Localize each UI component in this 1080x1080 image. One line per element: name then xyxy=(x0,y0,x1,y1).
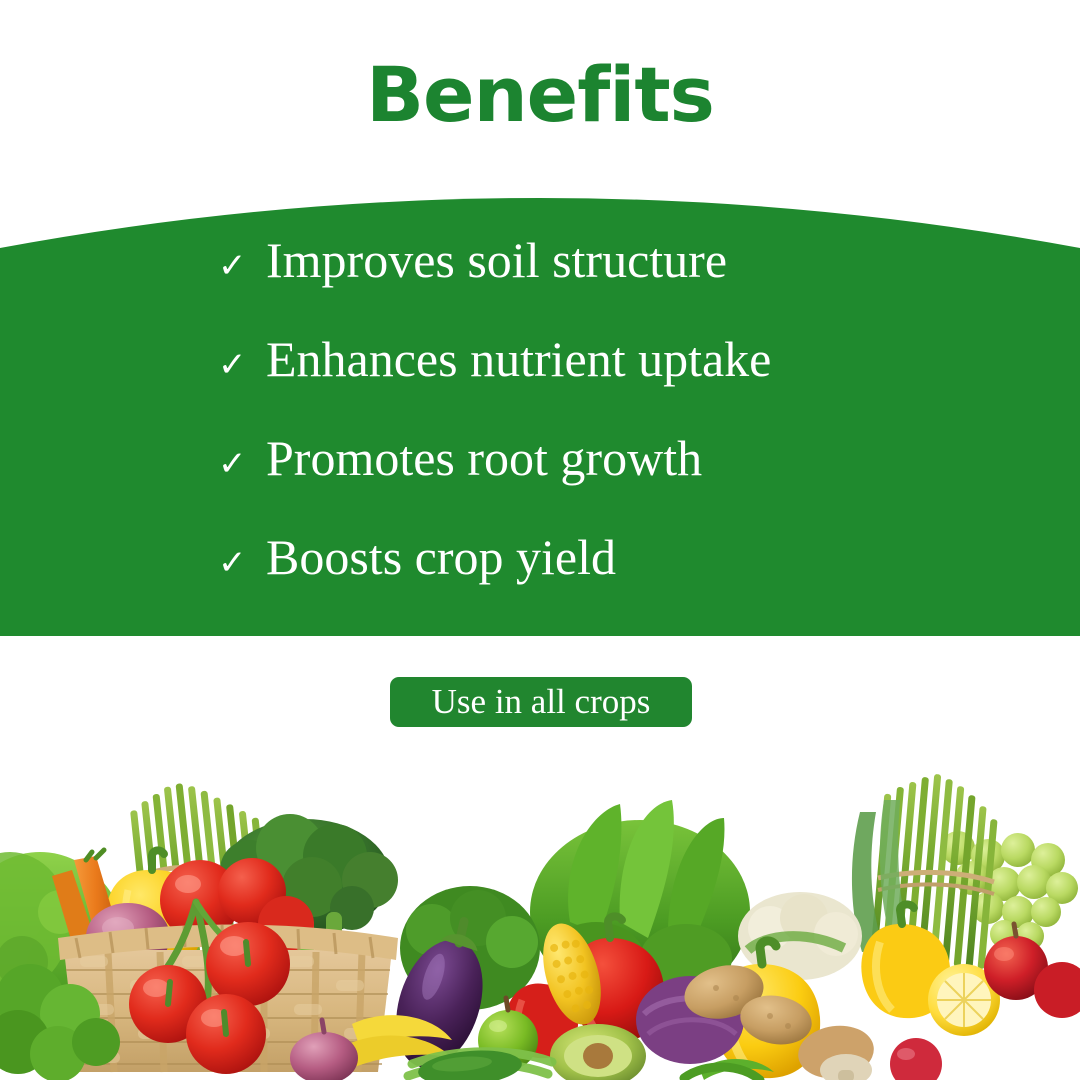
produce-photo xyxy=(0,752,1080,1080)
check-icon: ✓ xyxy=(218,537,266,589)
check-icon: ✓ xyxy=(218,240,266,292)
check-icon: ✓ xyxy=(218,339,266,391)
list-item: ✓ Boosts crop yield xyxy=(218,531,616,589)
status-badge-label: Use in all crops xyxy=(432,684,651,720)
list-item: ✓ Improves soil structure xyxy=(218,234,727,292)
status-badge: Use in all crops xyxy=(390,677,692,727)
list-item: ✓ Promotes root growth xyxy=(218,432,702,490)
list-item-label: Promotes root growth xyxy=(266,432,702,484)
page-title: Benefits xyxy=(0,52,1080,138)
list-item-label: Enhances nutrient uptake xyxy=(266,333,771,385)
benefits-poster: Benefits ✓ Improves soil structure ✓ Enh… xyxy=(0,0,1080,1080)
list-item-label: Improves soil structure xyxy=(266,234,727,286)
list-item: ✓ Enhances nutrient uptake xyxy=(218,333,771,391)
benefits-list: ✓ Improves soil structure ✓ Enhances nut… xyxy=(0,160,1080,636)
list-item-label: Boosts crop yield xyxy=(266,531,616,583)
check-icon: ✓ xyxy=(218,438,266,490)
